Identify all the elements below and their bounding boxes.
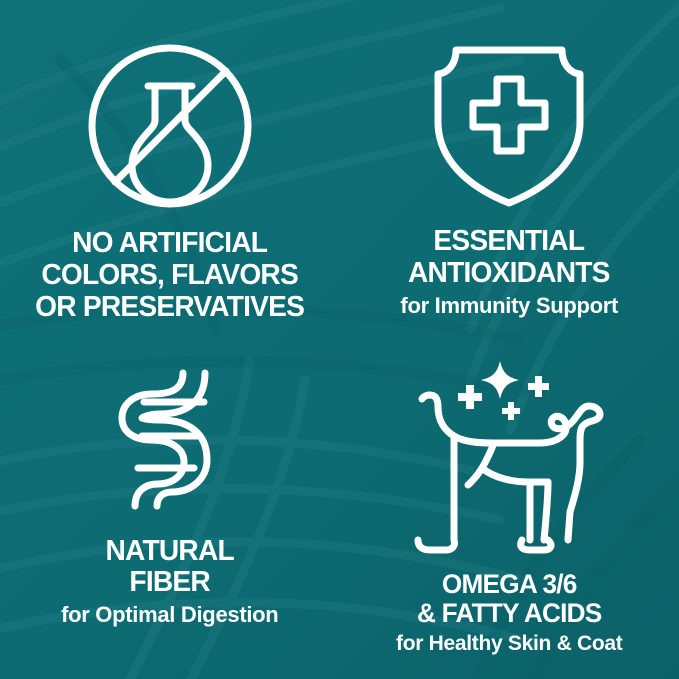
dog-sparkles-icon: [404, 354, 614, 554]
benefit-no-artificial: NO ARTIFICIAL COLORS, FLAVORS OR PRESERV…: [0, 0, 340, 340]
benefit-text-block: ESSENTIAL ANTIOXIDANTS for Immunity Supp…: [400, 226, 618, 318]
benefit-essential-antioxidants: ESSENTIAL ANTIOXIDANTS for Immunity Supp…: [340, 0, 679, 340]
benefit-subheading: for Healthy Skin & Coat: [396, 632, 622, 656]
benefit-heading: ESSENTIAL ANTIOXIDANTS: [404, 226, 615, 290]
benefit-subheading: for Optimal Digestion: [61, 602, 278, 627]
benefit-subheading: for Immunity Support: [400, 293, 618, 318]
no-artificial-flask-icon: [85, 40, 255, 212]
benefit-omega-fatty-acids: OMEGA 3/6 & FATTY ACIDS for Healthy Skin…: [340, 340, 679, 679]
benefit-heading: NATURAL FIBER: [64, 536, 275, 600]
benefit-natural-fiber: NATURAL FIBER for Optimal Digestion: [0, 340, 340, 679]
sparkle-group: [458, 361, 549, 420]
benefit-text-block: OMEGA 3/6 & FATTY ACIDS for Healthy Skin…: [396, 570, 622, 657]
benefit-text-block: NO ARTIFICIAL COLORS, FLAVORS OR PRESERV…: [31, 228, 308, 324]
product-benefits-panel: NO ARTIFICIAL COLORS, FLAVORS OR PRESERV…: [0, 0, 679, 679]
benefit-heading: OMEGA 3/6 & FATTY ACIDS: [399, 570, 619, 629]
benefit-heading: NO ARTIFICIAL COLORS, FLAVORS OR PRESERV…: [35, 228, 304, 324]
intestine-icon: [108, 368, 232, 510]
shield-medical-cross-icon: [434, 40, 584, 208]
benefit-text-block: NATURAL FIBER for Optimal Digestion: [61, 536, 278, 628]
benefits-grid: NO ARTIFICIAL COLORS, FLAVORS OR PRESERV…: [0, 0, 679, 679]
